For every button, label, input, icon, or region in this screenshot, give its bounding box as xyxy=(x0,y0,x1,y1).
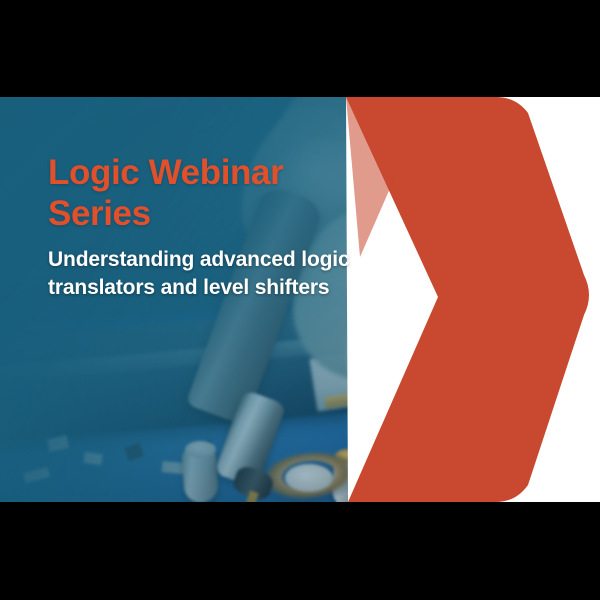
slide-canvas: Logic Webinar Series Understanding advan… xyxy=(0,0,600,600)
page-title: Logic Webinar Series xyxy=(48,152,378,234)
headline-block: Logic Webinar Series Understanding advan… xyxy=(48,152,378,302)
letterbox-bar-top xyxy=(0,0,600,97)
title-line-1: Logic Webinar xyxy=(48,153,283,192)
title-line-2: Series xyxy=(48,194,151,233)
subtitle-line-2: translators and level shifters xyxy=(48,276,329,299)
page-subtitle: Understanding advanced logic translators… xyxy=(48,246,378,302)
letterbox-bar-bottom xyxy=(0,502,600,600)
slide-content: Logic Webinar Series Understanding advan… xyxy=(0,97,600,502)
subtitle-line-1: Understanding advanced logic xyxy=(48,248,350,271)
